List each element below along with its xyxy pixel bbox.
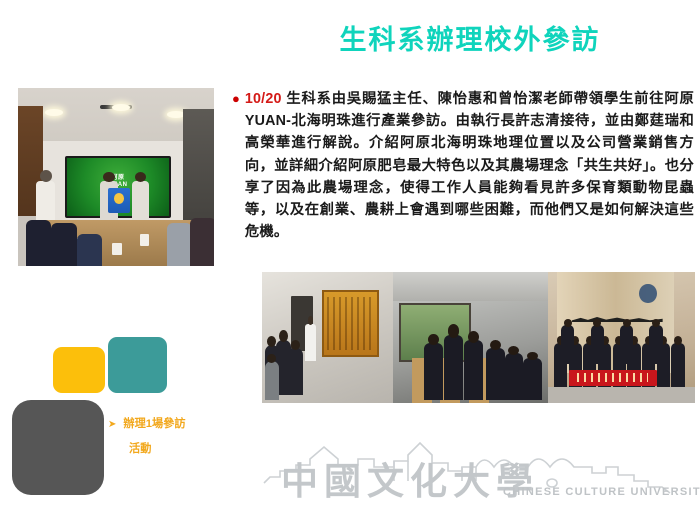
sub-bullet-line2: 活動 [108, 437, 228, 462]
photo-group-member [649, 325, 662, 363]
photo-ceiling [393, 272, 548, 301]
photo-visitor [288, 348, 302, 395]
body-text: 10/20 生科系由吳賜猛主任、陳怡惠和曾怡潔老師帶領學生前往阿原YUAN-北海… [245, 88, 694, 243]
arrow-right-icon: ➤ [108, 419, 116, 430]
bullet-icon: ● [232, 88, 240, 110]
decorative-square-gray [12, 400, 104, 495]
university-logo-cn: 中國文化大學 [281, 451, 539, 505]
photo-meeting-room: 阿原YUAN [18, 88, 214, 266]
photo-group-shot [548, 272, 695, 403]
photo-attendee [167, 223, 192, 266]
photo-audience [486, 348, 505, 400]
photo-gallery-tour [262, 272, 393, 403]
sub-bullet-line1: 辦理1場參訪 [123, 418, 185, 430]
photo-host [132, 181, 150, 220]
photo-attendee [26, 220, 51, 266]
university-logo-en: CHINESE CULTURE UNIVERSITY [503, 486, 700, 498]
beihai-pearl-logo [639, 284, 657, 303]
photo-attendee [190, 218, 214, 266]
decorative-square-yellow [53, 347, 105, 393]
photo-visitor [265, 361, 279, 400]
decorative-square-teal [108, 337, 167, 393]
photo-red-banner [569, 370, 657, 386]
university-logo: 中國文化大學 CHINESE CULTURE UNIVERSITY [262, 437, 682, 517]
photo-audience [523, 358, 542, 400]
photo-strip [262, 272, 695, 403]
photo-group-member [591, 325, 604, 363]
photo-seminar-room [393, 272, 548, 403]
photo-audience [444, 335, 463, 401]
photo-cup [140, 234, 150, 246]
photo-glass-wall [183, 109, 214, 219]
photo-attendee [51, 223, 76, 266]
slide-canvas: 生科系辦理校外參訪 阿原YUAN ● 10/20 生科系由吳賜猛主任、 [0, 0, 700, 525]
event-date: 10/20 [245, 91, 282, 107]
photo-guide [305, 324, 315, 361]
event-description: 生科系由吳賜猛主任、陳怡惠和曾怡潔老師帶領學生前往阿原YUAN-北海明珠進行產業… [245, 91, 694, 240]
photo-audience [424, 343, 443, 401]
photo-cup [112, 243, 122, 255]
photo-attendee [77, 234, 102, 266]
photo-audience [464, 340, 483, 400]
photo-audience [505, 353, 524, 400]
sub-bullet-block: ➤辦理1場參訪 活動 [108, 412, 228, 462]
photo-standing-man [36, 181, 56, 224]
page-title: 生科系辦理校外參訪 [250, 24, 690, 56]
ceiling-light-icon [112, 104, 130, 111]
photo-group-member [671, 343, 684, 387]
body-paragraph-block: ● 10/20 生科系由吳賜猛主任、陳怡惠和曾怡潔老師帶領學生前往阿原YUAN-… [232, 88, 694, 243]
photo-wall-artwork [322, 290, 378, 357]
photo-gift-box [108, 188, 130, 213]
photo-group-member [561, 325, 574, 363]
photo-floor [548, 387, 695, 403]
photo-group-member [620, 325, 633, 363]
